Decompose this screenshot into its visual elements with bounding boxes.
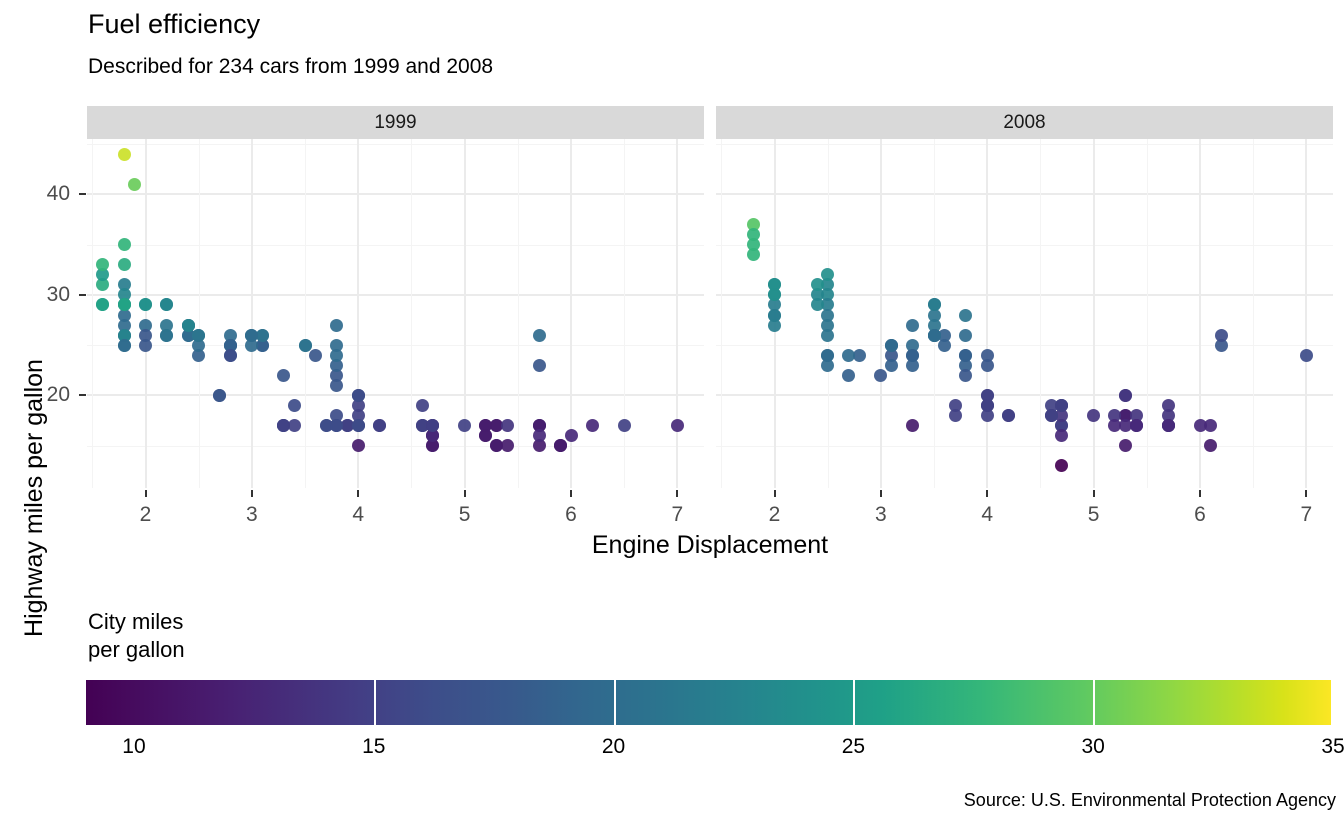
legend-tick-label: 35 [1303, 736, 1344, 757]
data-point [118, 148, 131, 161]
gridline-minor-x [1147, 139, 1148, 488]
data-point [160, 298, 173, 311]
data-point [959, 349, 972, 362]
data-point [501, 439, 514, 452]
data-point [1162, 399, 1175, 412]
colorbar-tick [1331, 680, 1333, 725]
data-point [1119, 389, 1132, 402]
legend-tick-label: 10 [104, 736, 164, 757]
x-tick-mark [774, 490, 776, 497]
data-point [213, 389, 226, 402]
y-tick-mark [79, 394, 86, 396]
data-point [1045, 399, 1058, 412]
legend-colorbar[interactable] [86, 680, 1333, 725]
x-tick-label: 6 [551, 504, 591, 525]
legend-title: City miles per gallon [88, 608, 185, 664]
data-point [96, 298, 109, 311]
gridline-minor-x [721, 139, 722, 488]
x-tick-label: 3 [861, 504, 901, 525]
data-point [981, 409, 994, 422]
x-tick-label: 4 [338, 504, 378, 525]
x-tick-mark [570, 490, 572, 497]
data-point [458, 419, 471, 432]
gridline-major-y [716, 394, 1333, 396]
gridline-minor-x [624, 139, 625, 488]
gridline-major-x [1093, 139, 1095, 488]
gridline-minor-x [305, 139, 306, 488]
data-point [1300, 349, 1313, 362]
gridline-minor-y [87, 245, 704, 246]
data-point [1055, 429, 1068, 442]
colorbar-tick [614, 680, 616, 725]
data-point [182, 319, 195, 332]
x-axis-title: Engine Displacement [87, 530, 1333, 560]
x-tick-mark [464, 490, 466, 497]
gridline-minor-y [716, 345, 1333, 346]
data-point [479, 419, 492, 432]
data-point [224, 349, 237, 362]
gridline-minor-y [716, 446, 1333, 447]
data-point [959, 309, 972, 322]
gridline-major-y [716, 294, 1333, 296]
gridline-major-x [357, 139, 359, 488]
legend-tick-label: 20 [584, 736, 644, 757]
gridline-minor-y [716, 144, 1333, 145]
x-tick-label: 7 [1286, 504, 1326, 525]
data-point [1204, 439, 1217, 452]
data-point [928, 298, 941, 311]
data-point [821, 349, 834, 362]
gridline-major-x [464, 139, 466, 488]
y-tick-label: 20 [18, 384, 70, 405]
x-tick-mark [357, 490, 359, 497]
data-point [139, 298, 152, 311]
data-point [416, 399, 429, 412]
data-point [373, 419, 386, 432]
x-tick-label: 6 [1180, 504, 1220, 525]
data-point [959, 329, 972, 342]
gridline-minor-x [411, 139, 412, 488]
facet-strip-2008: 2008 [716, 106, 1333, 139]
y-tick-label: 30 [18, 284, 70, 305]
x-tick-mark [1093, 490, 1095, 497]
panel-1999 [87, 139, 704, 488]
data-point [533, 429, 546, 442]
data-point [949, 409, 962, 422]
gridline-minor-y [87, 446, 704, 447]
x-tick-mark [676, 490, 678, 497]
colorbar-tick [1093, 680, 1095, 725]
data-point [959, 369, 972, 382]
legend-tick-label: 25 [823, 736, 883, 757]
page-title: Fuel efficiency [88, 8, 260, 40]
data-point [554, 439, 567, 452]
gridline-major-y [716, 193, 1333, 195]
y-tick-mark [79, 294, 86, 296]
data-point [671, 419, 684, 432]
data-point [1119, 419, 1132, 432]
data-point [128, 178, 141, 191]
data-point [533, 329, 546, 342]
gridline-minor-x [1040, 139, 1041, 488]
data-point [906, 419, 919, 432]
gridline-major-y [87, 193, 704, 195]
panel-2008 [716, 139, 1333, 488]
plot-subtitle: Described for 234 cars from 1999 and 200… [88, 54, 493, 80]
data-point [309, 349, 322, 362]
x-tick-label: 2 [126, 504, 166, 525]
data-point [299, 339, 312, 352]
data-point [618, 419, 631, 432]
data-point [277, 369, 290, 382]
gridline-major-x [251, 139, 253, 488]
y-tick-label: 40 [18, 183, 70, 204]
x-tick-mark [880, 490, 882, 497]
data-point [139, 339, 152, 352]
chart-root: Fuel efficiency Described for 234 cars f… [0, 0, 1344, 830]
legend-tick-label: 30 [1063, 736, 1123, 757]
data-point [352, 389, 365, 402]
gridline-minor-y [87, 345, 704, 346]
data-point [330, 409, 343, 422]
y-tick-mark [79, 193, 86, 195]
data-point [288, 419, 301, 432]
data-point [981, 349, 994, 362]
data-point [586, 419, 599, 432]
x-tick-label: 3 [232, 504, 272, 525]
data-point [330, 319, 343, 332]
plot-caption: Source: U.S. Environmental Protection Ag… [964, 789, 1336, 811]
data-point [747, 248, 760, 261]
data-point [192, 329, 205, 342]
data-point [853, 349, 866, 362]
data-point [1215, 329, 1228, 342]
gridline-major-x [986, 139, 988, 488]
x-tick-label: 5 [445, 504, 485, 525]
gridline-minor-x [92, 139, 93, 488]
gridline-major-x [1199, 139, 1201, 488]
data-point [330, 349, 343, 362]
data-point [352, 439, 365, 452]
facet-strip-1999: 1999 [87, 106, 704, 139]
data-point [118, 298, 131, 311]
data-point [885, 339, 898, 352]
x-tick-mark [145, 490, 147, 497]
data-point [821, 329, 834, 342]
gridline-minor-x [518, 139, 519, 488]
data-point [1119, 439, 1132, 452]
gridline-major-y [87, 394, 704, 396]
data-point [1162, 419, 1175, 432]
data-point [1002, 409, 1015, 422]
data-point [842, 369, 855, 382]
data-point [565, 429, 578, 442]
gridline-major-x [1305, 139, 1307, 488]
data-point [288, 399, 301, 412]
y-axis-title: Highway miles per gallon [16, 318, 52, 678]
colorbar-tick [853, 680, 855, 725]
data-point [118, 238, 131, 251]
gridline-major-x [676, 139, 678, 488]
data-point [811, 278, 824, 291]
x-tick-mark [251, 490, 253, 497]
data-point [1194, 419, 1207, 432]
data-point [96, 258, 109, 271]
colorbar-tick [374, 680, 376, 725]
data-point [906, 319, 919, 332]
data-point [501, 419, 514, 432]
x-tick-label: 2 [755, 504, 795, 525]
data-point [118, 339, 131, 352]
gridline-major-y [87, 294, 704, 296]
gridline-major-x [880, 139, 882, 488]
data-point [1087, 409, 1100, 422]
data-point [533, 359, 546, 372]
x-tick-label: 7 [657, 504, 697, 525]
data-point [118, 258, 131, 271]
data-point [928, 329, 941, 342]
data-point [906, 349, 919, 362]
x-tick-label: 5 [1074, 504, 1114, 525]
data-point [885, 359, 898, 372]
gridline-minor-y [716, 245, 1333, 246]
data-point [245, 329, 258, 342]
legend-tick-label: 15 [344, 736, 404, 757]
x-tick-mark [986, 490, 988, 497]
data-point [352, 419, 365, 432]
data-point [874, 369, 887, 382]
gridline-minor-x [199, 139, 200, 488]
data-point [1055, 459, 1068, 472]
data-point [811, 298, 824, 311]
x-tick-mark [1199, 490, 1201, 497]
x-tick-mark [1305, 490, 1307, 497]
gridline-minor-y [87, 144, 704, 145]
data-point [160, 319, 173, 332]
x-tick-label: 4 [967, 504, 1007, 525]
gridline-major-x [145, 139, 147, 488]
data-point [768, 309, 781, 322]
gridline-minor-x [1253, 139, 1254, 488]
data-point [842, 349, 855, 362]
